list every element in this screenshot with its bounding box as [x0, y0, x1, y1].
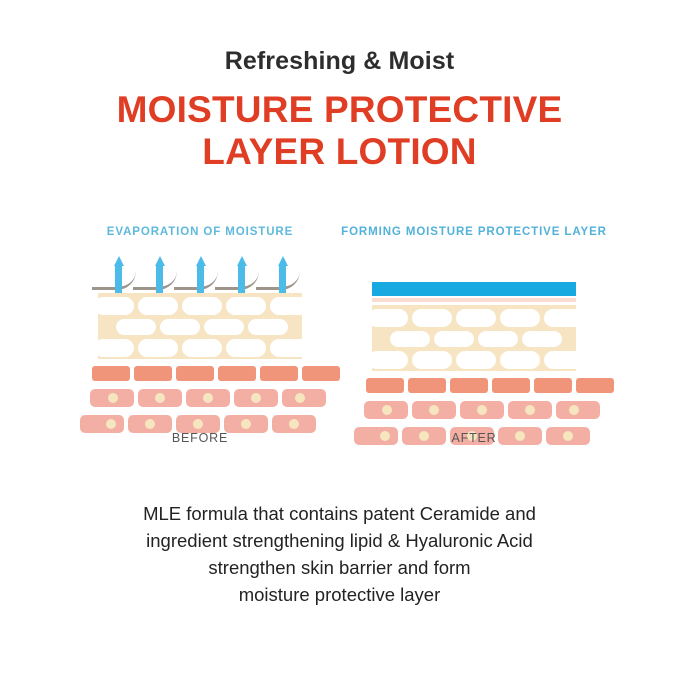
basal-brick [450, 378, 488, 393]
after-skin-cross-section [372, 265, 576, 447]
dermal-layer-row-1 [372, 401, 576, 421]
cell-nucleus [155, 393, 165, 403]
cell-nucleus [477, 405, 487, 415]
cell-nucleus [203, 393, 213, 403]
corneum-cell [270, 297, 310, 315]
header: Refreshing & Moist MOISTURE PROTECTIVE L… [0, 0, 679, 174]
corneum-cell [434, 331, 474, 347]
dermal-cell [412, 401, 456, 419]
dermal-cell [460, 401, 504, 419]
after-caption-line-2: PROTECTIVE LAYER [478, 226, 607, 238]
description-paragraph: MLE formula that contains patent Ceramid… [60, 500, 619, 608]
dermal-cell [282, 389, 326, 407]
cell-nucleus [525, 405, 535, 415]
evaporation-arrow-icon [155, 256, 164, 293]
corneum-cell [368, 309, 408, 327]
cell-nucleus [289, 419, 299, 429]
basal-brick [134, 366, 172, 381]
basal-brick [176, 366, 214, 381]
basal-brick [408, 378, 446, 393]
corneum-cell [160, 319, 200, 335]
page-title: MOISTURE PROTECTIVE LAYER LOTION [0, 89, 679, 175]
description-line-3: strengthen skin barrier and form [60, 554, 619, 581]
stratum-corneum-layer [372, 305, 576, 371]
basal-layer [98, 366, 302, 383]
stratum-corneum-layer [98, 293, 302, 359]
protective-layer-underline [372, 298, 576, 302]
after-caption: FORMING MOISTURE PROTECTIVE LAYER [332, 225, 616, 240]
cell-nucleus [241, 419, 251, 429]
evaporation-arrow-icon [237, 256, 246, 293]
before-label: BEFORE [58, 431, 342, 445]
cell-nucleus [108, 393, 118, 403]
corneum-cell [522, 331, 562, 347]
cell-nucleus [382, 405, 392, 415]
cell-nucleus [145, 419, 155, 429]
dermal-cell [364, 401, 408, 419]
cell-nucleus [295, 393, 305, 403]
before-caption: EVAPORATION OF MOISTURE [58, 225, 342, 240]
description-line-4: moisture protective layer [60, 581, 619, 608]
eyebrow-text: Refreshing & Moist [0, 48, 679, 76]
before-caption-line-1: EVAPORATION OF MOISTURE [107, 226, 293, 238]
basal-brick [92, 366, 130, 381]
protective-layer-bar [372, 282, 576, 296]
corneum-cell [138, 297, 178, 315]
after-panel: FORMING MOISTURE PROTECTIVE LAYER [332, 225, 616, 475]
evaporation-arrow-icon [114, 256, 123, 293]
corneum-cell [368, 351, 408, 369]
corneum-cell [544, 351, 584, 369]
evaporation-arrow-icon [278, 256, 287, 293]
basal-layer [372, 378, 576, 395]
basal-brick [366, 378, 404, 393]
basal-brick [534, 378, 572, 393]
headline-line-1: MOISTURE PROTECTIVE [0, 89, 679, 132]
comparison-diagram: EVAPORATION OF MOISTURE [0, 225, 679, 475]
corneum-cell [270, 339, 310, 357]
corneum-cell [544, 309, 584, 327]
dermal-cell [508, 401, 552, 419]
basal-brick [492, 378, 530, 393]
dermal-cell [90, 389, 134, 407]
basal-brick [260, 366, 298, 381]
corneum-cell [456, 309, 496, 327]
corneum-cell [182, 339, 222, 357]
corneum-cell [226, 339, 266, 357]
moisture-protective-layer [372, 265, 576, 305]
basal-brick [218, 366, 256, 381]
cell-nucleus [106, 419, 116, 429]
dermal-cell [556, 401, 600, 419]
dermal-cell [138, 389, 182, 407]
evaporation-arrow-icon [196, 256, 205, 293]
dermal-layer-row-1 [98, 389, 302, 409]
description-line-2: ingredient strengthening lipid & Hyaluro… [60, 527, 619, 554]
corneum-cell [412, 309, 452, 327]
corneum-cell [204, 319, 244, 335]
after-label: AFTER [332, 431, 616, 445]
description-line-1: MLE formula that contains patent Ceramid… [60, 500, 619, 527]
corneum-cell [94, 339, 134, 357]
corneum-cell [226, 297, 266, 315]
dermal-cell [186, 389, 230, 407]
evaporation-zone [98, 253, 302, 293]
cell-nucleus [193, 419, 203, 429]
corneum-cell [500, 309, 540, 327]
after-caption-line-1: FORMING MOISTURE [341, 226, 474, 238]
corneum-cell [94, 297, 134, 315]
corneum-cell [116, 319, 156, 335]
before-skin-cross-section [98, 253, 302, 435]
corneum-cell [456, 351, 496, 369]
before-panel: EVAPORATION OF MOISTURE [58, 225, 342, 475]
corneum-cell [500, 351, 540, 369]
cell-nucleus [429, 405, 439, 415]
corneum-cell [412, 351, 452, 369]
corneum-cell [182, 297, 222, 315]
cell-nucleus [251, 393, 261, 403]
basal-brick [576, 378, 614, 393]
headline-line-2: LAYER LOTION [0, 131, 679, 174]
corneum-cell [478, 331, 518, 347]
corneum-cell [138, 339, 178, 357]
corneum-cell [390, 331, 430, 347]
corneum-cell [248, 319, 288, 335]
cell-nucleus [569, 405, 579, 415]
dermal-cell [234, 389, 278, 407]
